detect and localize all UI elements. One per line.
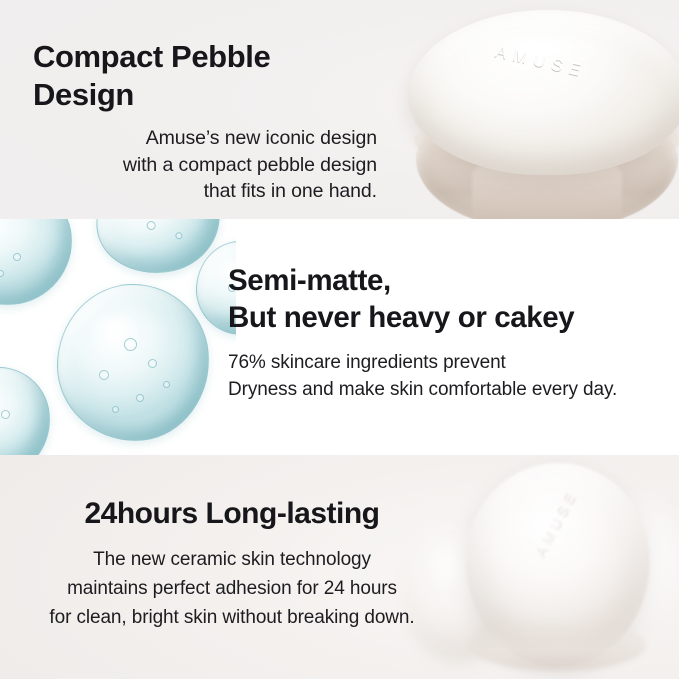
gel-bubble xyxy=(99,370,109,380)
panel-3-body-line-1: The new ceramic skin technology xyxy=(12,545,452,574)
panel-2-text-block: Semi-matte, But never heavy or cakey 76%… xyxy=(228,262,674,403)
panel-3-text-block: 24hours Long-lasting The new ceramic ski… xyxy=(12,495,452,632)
gel-bubble xyxy=(13,253,21,261)
gel-droplets-image xyxy=(0,219,236,455)
compact-lid xyxy=(408,10,679,175)
product-feature-image: AMUSE Compact Pebble Design Amuse’s new … xyxy=(0,0,679,679)
gel-bubble xyxy=(148,359,157,368)
panel-2-heading-line-1: Semi-matte, xyxy=(228,262,674,299)
panel-1-body-line-3: that fits in one hand. xyxy=(0,178,377,205)
panel-2-heading-line-2: But never heavy or cakey xyxy=(228,299,674,336)
panel-2-body-line-2: Dryness and make skin comfortable every … xyxy=(228,376,674,403)
gel-bubble xyxy=(146,220,156,230)
gel-bubble xyxy=(112,406,119,413)
gel-bubble xyxy=(1,410,10,419)
pebble-bottom-edge xyxy=(470,619,646,671)
panel-3-heading: 24hours Long-lasting xyxy=(12,495,452,533)
panel-1-heading: Compact Pebble Design xyxy=(0,38,380,114)
pebble-compact-cushion-image: AMUSE xyxy=(398,6,679,219)
gel-droplet xyxy=(0,367,50,455)
panel-3-body: The new ceramic skin technology maintain… xyxy=(12,545,452,632)
gel-bubble xyxy=(0,270,4,277)
panel-compact-pebble-design: AMUSE Compact Pebble Design Amuse’s new … xyxy=(0,0,679,219)
gel-droplet xyxy=(0,219,72,305)
panel-1-body: Amuse’s new iconic design with a compact… xyxy=(0,125,380,205)
gel-bubble xyxy=(124,338,137,351)
panel-2-heading: Semi-matte, But never heavy or cakey xyxy=(228,262,674,336)
panel-24hours-long-lasting: AMUSE 24hours Long-lasting The new ceram… xyxy=(0,455,679,679)
gel-bubble xyxy=(175,231,183,239)
panel-1-body-line-2: with a compact pebble design xyxy=(0,152,377,179)
panel-1-text-block: Compact Pebble Design Amuse’s new iconic… xyxy=(0,38,380,205)
panel-2-body-line-1: 76% skincare ingredients prevent xyxy=(228,349,674,376)
panel-1-body-line-1: Amuse’s new iconic design xyxy=(0,125,377,152)
panel-3-body-line-2: maintains perfect adhesion for 24 hours xyxy=(12,574,452,603)
gel-bubble xyxy=(136,394,144,402)
panel-2-body: 76% skincare ingredients prevent Dryness… xyxy=(228,349,674,403)
gel-bubble xyxy=(163,381,170,388)
panel-semi-matte: Semi-matte, But never heavy or cakey 76%… xyxy=(0,219,679,455)
gel-droplet xyxy=(57,284,209,441)
panel-3-body-line-3: for clean, bright skin without breaking … xyxy=(12,603,452,632)
